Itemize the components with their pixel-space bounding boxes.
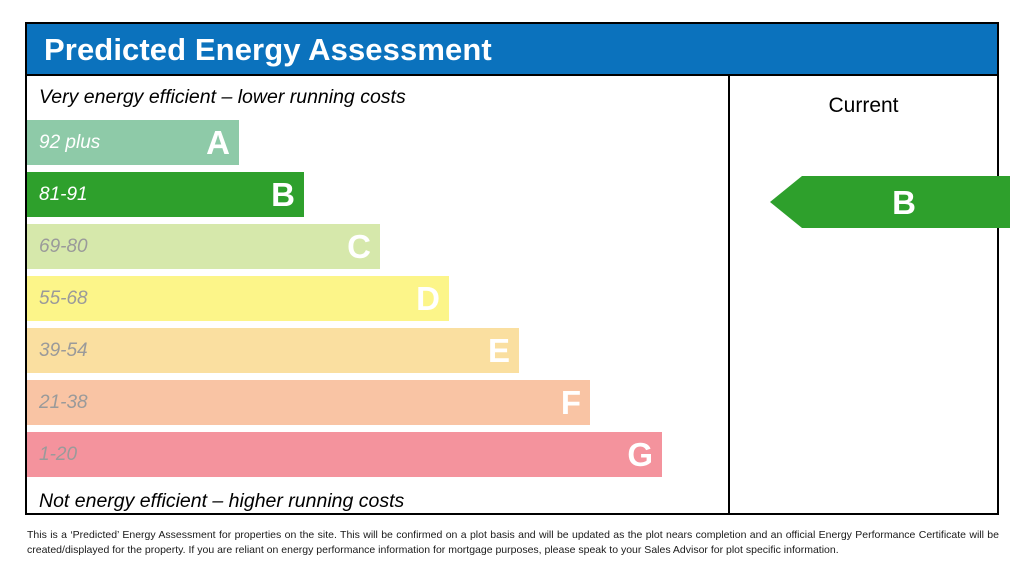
band-range-d: 55-68 [39, 289, 88, 308]
epc-chart: Predicted Energy Assessment Very energy … [0, 0, 1024, 576]
certificate-body: Very energy efficient – lower running co… [27, 76, 997, 513]
band-row-g: 1-20G [27, 432, 662, 477]
band-range-e: 39-54 [39, 341, 88, 360]
band-letter-d: D [416, 282, 440, 315]
band-letter-a: A [206, 126, 230, 159]
energy-scale-panel: Very energy efficient – lower running co… [27, 76, 728, 513]
band-range-a: 92 plus [39, 133, 100, 152]
band-row-c: 69-80C [27, 224, 380, 269]
band-letter-f: F [561, 386, 581, 419]
band-letter-e: E [488, 334, 510, 367]
band-row-a: 92 plusA [27, 120, 239, 165]
band-range-b: 81-91 [39, 185, 88, 204]
title-bar: Predicted Energy Assessment [27, 24, 997, 76]
scale-bottom-caption: Not energy efficient – higher running co… [39, 490, 404, 513]
current-rating-arrow: B [770, 176, 1010, 228]
current-rating-letter: B [892, 186, 916, 219]
band-letter-c: C [347, 230, 371, 263]
band-letter-b: B [271, 178, 295, 211]
band-range-g: 1-20 [39, 445, 77, 464]
band-row-d: 55-68D [27, 276, 449, 321]
current-column-heading: Current [730, 94, 997, 118]
current-rating-panel: Current B [730, 76, 997, 513]
certificate-frame: Predicted Energy Assessment Very energy … [25, 22, 999, 515]
page-title: Predicted Energy Assessment [27, 34, 492, 65]
scale-top-caption: Very energy efficient – lower running co… [39, 86, 406, 109]
band-letter-g: G [627, 438, 653, 471]
band-row-e: 39-54E [27, 328, 519, 373]
band-row-f: 21-38F [27, 380, 590, 425]
footnote-text: This is a ‘Predicted’ Energy Assessment … [27, 528, 999, 558]
arrow-left-icon [770, 176, 1010, 228]
band-list: 92 plusA81-91B69-80C55-68D39-54E21-38F1-… [27, 120, 728, 484]
band-range-f: 21-38 [39, 393, 88, 412]
band-range-c: 69-80 [39, 237, 88, 256]
band-row-b: 81-91B [27, 172, 304, 217]
